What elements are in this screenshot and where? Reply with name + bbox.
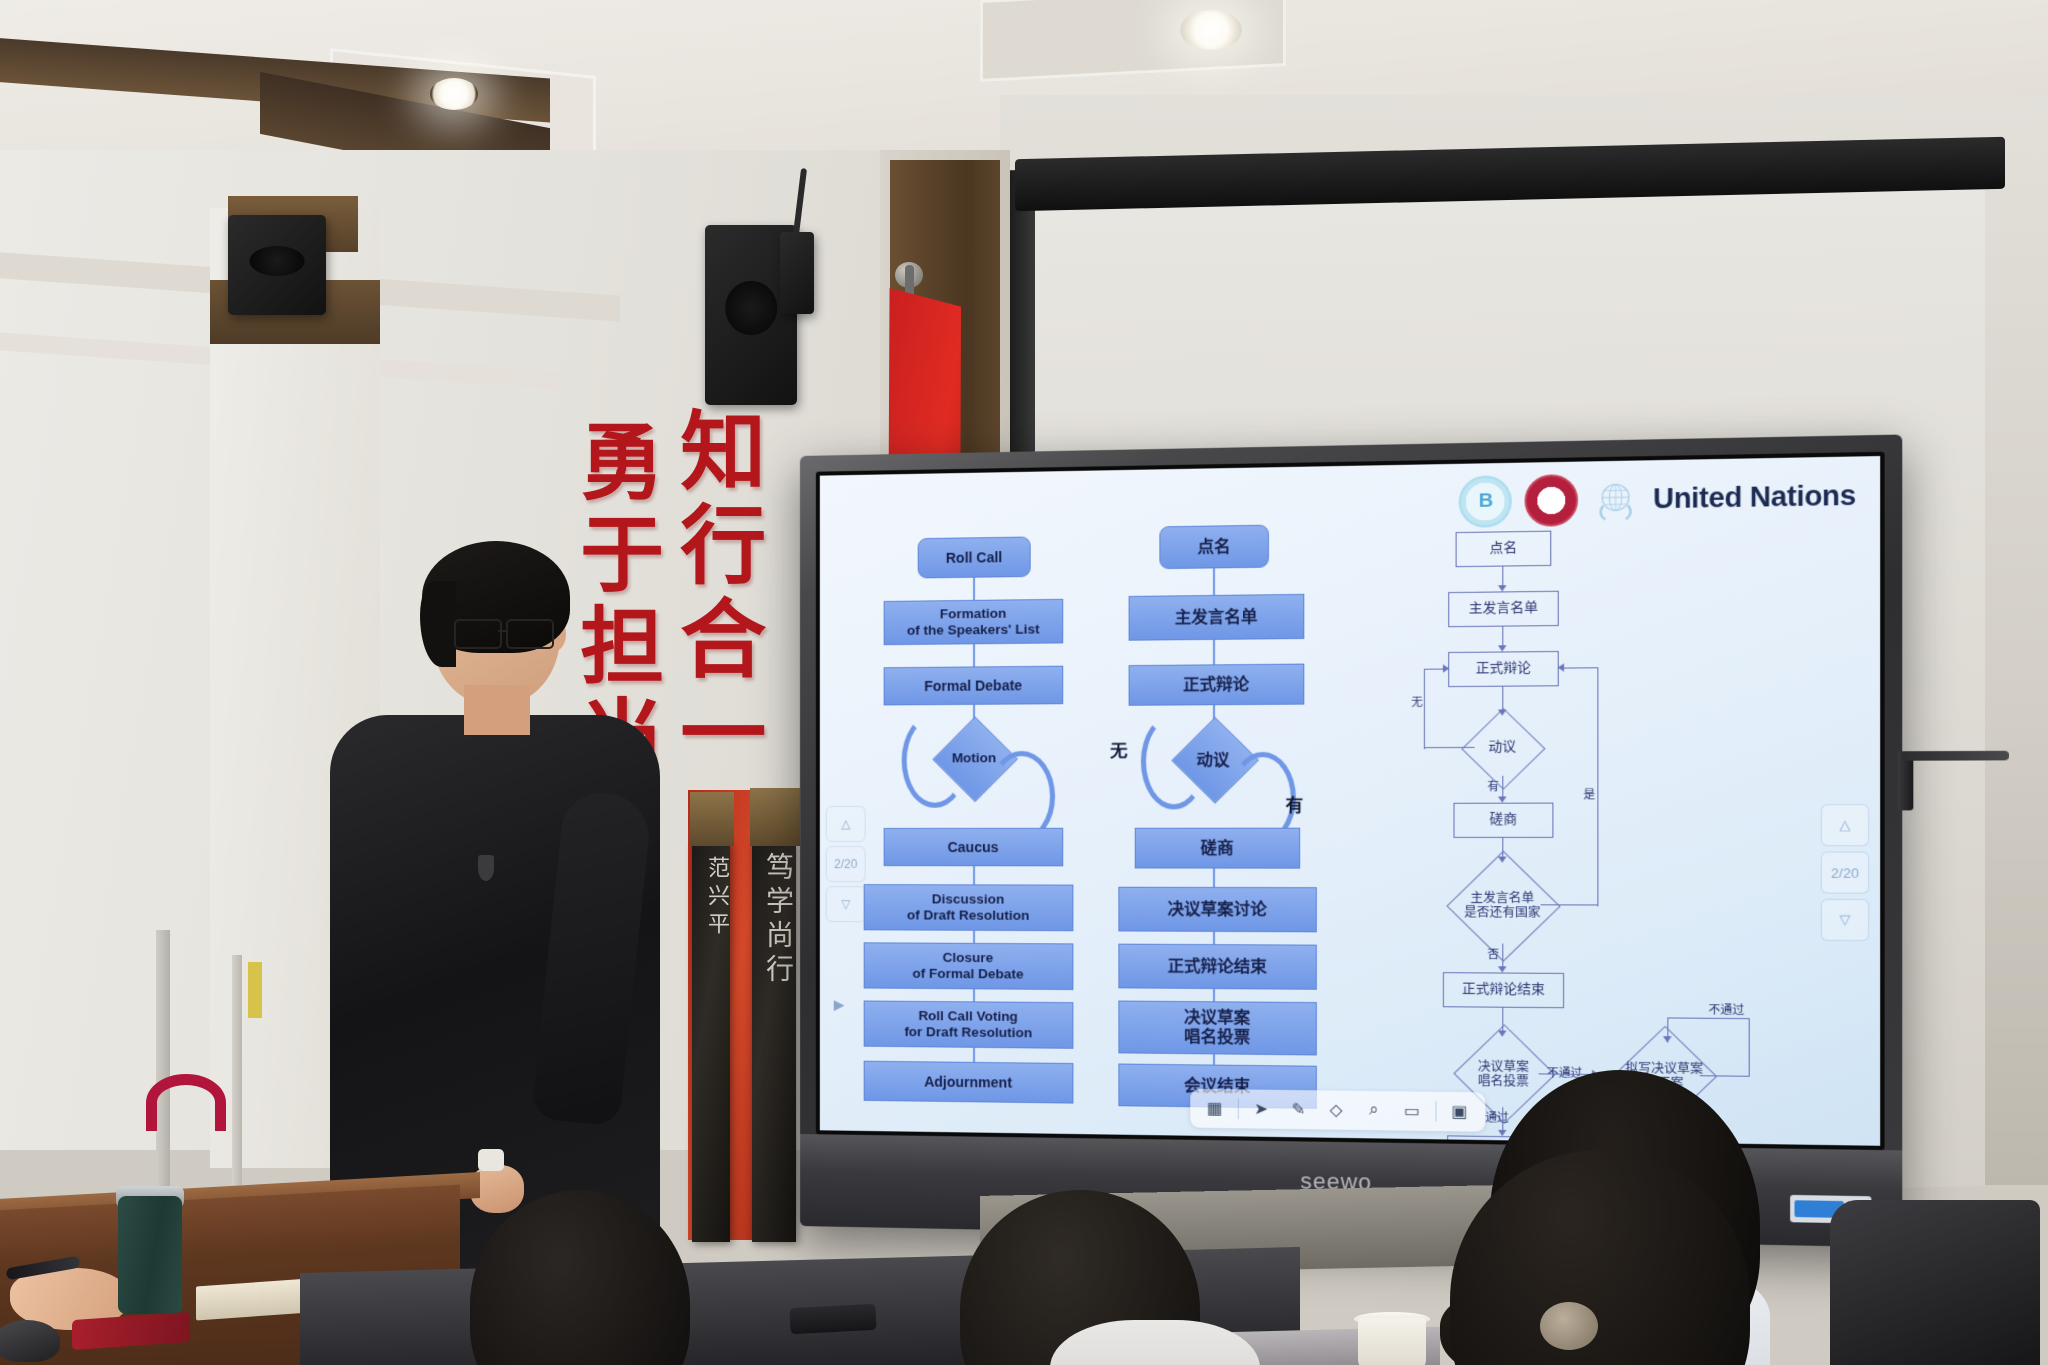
screen-icon[interactable]: ▭ [1393,1095,1431,1126]
screenshot-root: 知行合一 勇于担当 范兴平 笃学尚行 B 师 [0,0,2048,1365]
page-down-icon[interactable]: ▽ [1821,899,1869,941]
node-closure-debate[interactable]: Closure of Formal Debate [864,942,1074,990]
magnifier-icon[interactable]: ⌕ [1355,1095,1393,1126]
cn-node-roll-call[interactable]: 点名 [1159,525,1269,569]
school-seal-mark: 师 [1542,488,1559,513]
cn-motion-label-yes: 有 [1286,791,1304,817]
la-amend-fail-arrow [1663,1036,1672,1042]
la-motion-yes-label: 有 [1487,778,1499,795]
la-node-speakers-list[interactable]: 主发言名单 [1448,591,1559,627]
interactive-display[interactable]: B 师 [800,435,1902,1248]
ceiling-light-right [1180,10,1242,50]
slide-expand-arrow-icon[interactable]: ▶ [834,996,845,1013]
page-up-icon[interactable]: △ [1821,804,1869,846]
la-vote-pass-label: 通过 [1485,1109,1508,1126]
node-closure-line1: Closure [943,950,994,966]
green-thermos [118,1196,182,1314]
cn-connector-1-2 [1213,568,1215,595]
grid-icon[interactable]: ▦ [1196,1093,1233,1124]
red-hook-stand [146,1074,226,1131]
la-node-debate-closed[interactable]: 正式辩论结束 [1443,972,1564,1008]
speaker-cone-left [250,246,305,276]
node-roll-call[interactable]: Roll Call [918,536,1031,578]
presenter-clicker [478,1149,504,1171]
curtain-rod [232,955,242,1185]
presenter-sideburn [420,581,456,667]
node-closure-line2: of Formal Debate [913,966,1024,983]
plaque-left-text: 范兴平 [700,856,732,940]
node-formal-debate[interactable]: Formal Debate [884,666,1064,706]
speaker-cone-right [725,281,777,335]
cn-motion-loop-left [1141,713,1207,809]
university-logo-icon: B [1458,475,1511,528]
slide-next-down-icon[interactable]: ▽ [826,886,866,922]
presenter-chest-logo [478,855,494,881]
wall-calligraphy-right-column: 知行合一 [670,406,758,782]
plaque-right-text: 笃学尚行 [758,852,798,988]
plaque-left-header [690,792,734,846]
glasses-lens-left [454,619,502,649]
la-amend-fail-up [1749,1018,1751,1077]
hair-scrunchie [1540,1302,1598,1350]
cn-node-speakers-list[interactable]: 主发言名单 [1129,594,1305,641]
pen-icon[interactable]: ✎ [1280,1094,1318,1125]
slide-toolbar[interactable]: ▦ ➤ ✎ ◇ ⌕ ▭ ▣ [1190,1089,1485,1132]
wall-speaker-left [228,215,326,315]
display-bezel: B 师 [816,452,1885,1150]
cn-connector-2-3 [1213,640,1215,665]
la-d2-line1: 主发言名单 [1470,890,1534,905]
slide-page-counter-left: 2/20 [826,846,866,882]
paper-cup [1358,1318,1426,1365]
node-speakers-list-line2: of the Speakers' List [907,621,1040,638]
la-motion-no-label: 无 [1411,693,1423,710]
la-yes-label: 是 [1583,786,1595,803]
la-d3-line1: 决议草案 [1478,1059,1529,1074]
cn-node-discussion-draft[interactable]: 决议草案讨论 [1118,887,1316,933]
cn-connector-discussion-closure [1213,932,1215,944]
node-caucus[interactable]: Caucus [884,828,1064,867]
la-yes-vert [1597,667,1598,906]
presenter-glasses-icon [454,619,564,645]
slide-page-controls[interactable]: △ 2/20 ▽ [1821,804,1869,941]
connector-discussion-closure [973,931,975,943]
la-yes-arrow [1558,663,1564,671]
la-node-caucus[interactable]: 磋商 [1453,803,1553,838]
cn-motion-label-no: 无 [1110,736,1127,761]
present-icon[interactable]: ▣ [1440,1096,1478,1128]
cursor-icon[interactable]: ➤ [1242,1094,1279,1125]
yellow-tape-marker [248,962,262,1018]
slide-left-controls[interactable]: △ 2/20 ▽ [826,806,866,922]
node-discussion-draft[interactable]: Discussion of Draft Resolution [864,884,1074,931]
la-node-roll-call[interactable]: 点名 [1456,531,1552,568]
node-discussion-line2: of Draft Resolution [907,907,1030,924]
connector-closure-voting [973,989,975,1001]
la-motion-no-vert [1424,669,1425,749]
la-yes-into [1562,667,1598,669]
cn-connector-voting-end [1213,1054,1215,1064]
cn-node-voting-line2: 唱名投票 [1184,1028,1250,1048]
la-amend-fail-label: 不通过 [1708,1001,1744,1018]
la-d2-line2: 是否还有国家 [1464,905,1541,920]
presenter-neck [464,685,530,735]
node-voting-line2: for Draft Resolution [904,1024,1032,1041]
glasses-lens-right [506,619,554,649]
ceiling-speaker-small [780,232,814,314]
la-node-formal-debate[interactable]: 正式辩论 [1448,651,1559,687]
toolbar-separator [1237,1099,1238,1119]
eraser-icon[interactable]: ◇ [1317,1094,1355,1125]
connector-1-2 [973,578,975,600]
connector-caucus-discussion [973,866,975,884]
ceiling-light-left [430,78,478,110]
la-yes-horiz [1541,904,1599,906]
un-title-text: United Nations [1653,479,1856,515]
office-chair [1830,1200,2040,1365]
school-seal-icon: 师 [1524,474,1577,527]
node-roll-call-voting[interactable]: Roll Call Voting for Draft Resolution [864,1001,1074,1049]
plaque-right-header [750,788,800,846]
motion-loop-left [902,713,968,808]
display-stylus-tray[interactable] [1902,751,2009,761]
la-no-label: 否 [1487,946,1499,963]
la-d3-line2: 唱名投票 [1478,1074,1529,1090]
connector-2-3 [973,644,975,666]
cn-connector-closure-voting [1213,989,1215,1001]
university-logo-mark: B [1479,490,1491,513]
cn-node-formal-debate[interactable]: 正式辩论 [1129,664,1305,706]
connector-voting-adjournment [973,1048,975,1062]
node-discussion-line1: Discussion [932,891,1005,907]
un-emblem-icon [1591,475,1640,524]
cn-node-closure-debate[interactable]: 正式辩论结束 [1118,944,1316,990]
cn-node-voting[interactable]: 决议草案 唱名投票 [1118,1001,1316,1056]
cn-node-voting-line1: 决议草案 [1184,1008,1250,1028]
la-motion-no-horiz [1424,747,1475,749]
node-voting-line1: Roll Call Voting [918,1008,1018,1025]
node-speakers-list-line1: Formation [940,606,1007,623]
page-indicator: 2/20 [1821,852,1869,894]
cn-connector-caucus-discussion [1213,869,1215,887]
slide-prev-up-icon[interactable]: △ [826,806,866,842]
tv-remote[interactable] [789,1304,876,1334]
toolbar-separator-2 [1435,1101,1436,1122]
la-motion-no-arrow [1443,664,1449,672]
node-adjournment[interactable]: Adjournment [864,1061,1074,1104]
cn-node-caucus[interactable]: 磋商 [1135,828,1300,869]
slide-header: B 师 [1458,469,1856,528]
slide-canvas[interactable]: B 师 [820,456,1880,1146]
glasses-bridge [498,630,508,632]
node-speakers-list[interactable]: Formation of the Speakers' List [884,599,1064,645]
computer-mouse[interactable] [0,1320,60,1362]
